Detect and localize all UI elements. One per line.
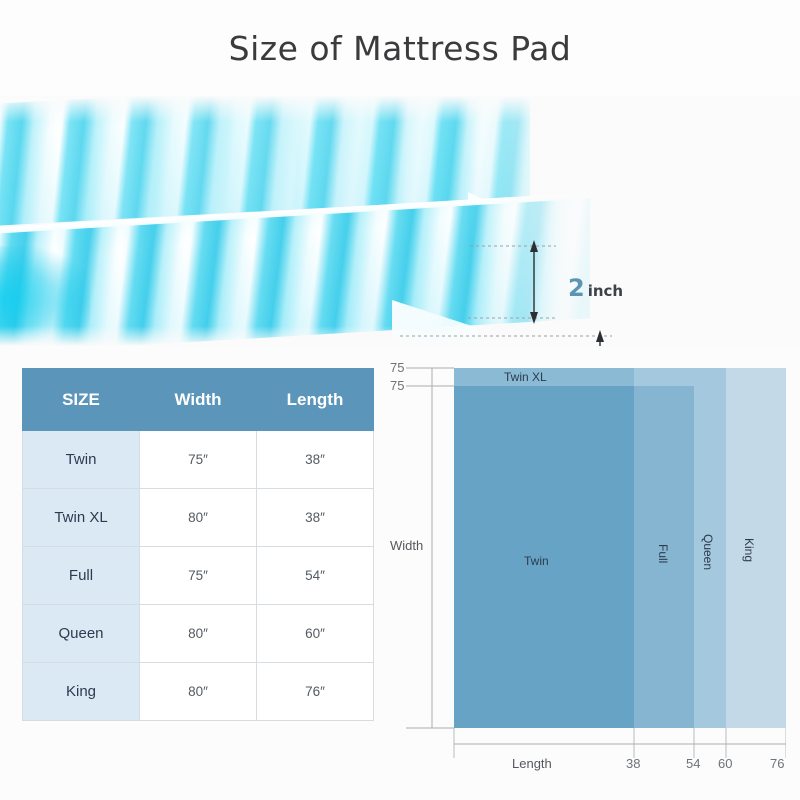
title-bar: Size of Mattress Pad xyxy=(0,0,800,96)
table-row: Queen 80″ 60″ xyxy=(23,605,374,663)
dimension-lines xyxy=(0,96,800,346)
y-axis-label: Width xyxy=(390,538,423,553)
series-label-queen: Queen xyxy=(701,534,715,570)
thickness-value-2: 2 xyxy=(568,274,585,302)
cell-width: 80″ xyxy=(140,663,257,721)
table-row: Twin 75″ 38″ xyxy=(23,431,374,489)
table-row: Full 75″ 54″ xyxy=(23,547,374,605)
cell-size: Queen xyxy=(23,605,140,663)
table-header-row: SIZE Width Length xyxy=(23,369,374,431)
x-tick-label-54: 54 xyxy=(686,756,700,771)
size-comparison-diagram: 75 75 Width Length 38 54 60 76 Twin XL T… xyxy=(392,356,786,780)
page-title: Size of Mattress Pad xyxy=(229,29,572,68)
series-label-twin-xl: Twin XL xyxy=(504,370,547,384)
cell-width: 80″ xyxy=(140,489,257,547)
series-label-king: King xyxy=(742,538,756,562)
series-label-twin: Twin xyxy=(524,554,549,568)
cell-length: 54″ xyxy=(257,547,374,605)
column-header-width: Width xyxy=(140,369,257,431)
table-row: Twin XL 80″ 38″ xyxy=(23,489,374,547)
thickness-label-2inch: 2 inch xyxy=(568,274,623,302)
cell-size: King xyxy=(23,663,140,721)
size-table: SIZE Width Length Twin 75″ 38″ Twin XL 8… xyxy=(22,368,374,721)
size-comparison-svg xyxy=(392,356,786,780)
y-tick-label-second: 75 xyxy=(390,378,404,393)
cell-width: 75″ xyxy=(140,547,257,605)
x-tick-label-76: 76 xyxy=(770,756,784,771)
column-header-length: Length xyxy=(257,369,374,431)
x-tick-label-60: 60 xyxy=(718,756,732,771)
table-row: King 80″ 76″ xyxy=(23,663,374,721)
cell-length: 38″ xyxy=(257,489,374,547)
cell-width: 75″ xyxy=(140,431,257,489)
size-table-container: SIZE Width Length Twin 75″ 38″ Twin XL 8… xyxy=(22,368,374,721)
cell-size: Twin xyxy=(23,431,140,489)
column-header-size: SIZE xyxy=(23,369,140,431)
x-axis-label: Length xyxy=(512,756,552,771)
cell-size: Twin XL xyxy=(23,489,140,547)
series-label-full: Full xyxy=(656,544,670,563)
cell-length: 60″ xyxy=(257,605,374,663)
cell-length: 38″ xyxy=(257,431,374,489)
hero-section: 2 inch 3 inch xyxy=(0,96,800,346)
x-tick-label-38: 38 xyxy=(626,756,640,771)
page-root: Size of Mattress Pad xyxy=(0,0,800,800)
cell-size: Full xyxy=(23,547,140,605)
cell-width: 80″ xyxy=(140,605,257,663)
thickness-unit-2: inch xyxy=(588,282,623,300)
y-tick-label-top: 75 xyxy=(390,360,404,375)
cell-length: 76″ xyxy=(257,663,374,721)
